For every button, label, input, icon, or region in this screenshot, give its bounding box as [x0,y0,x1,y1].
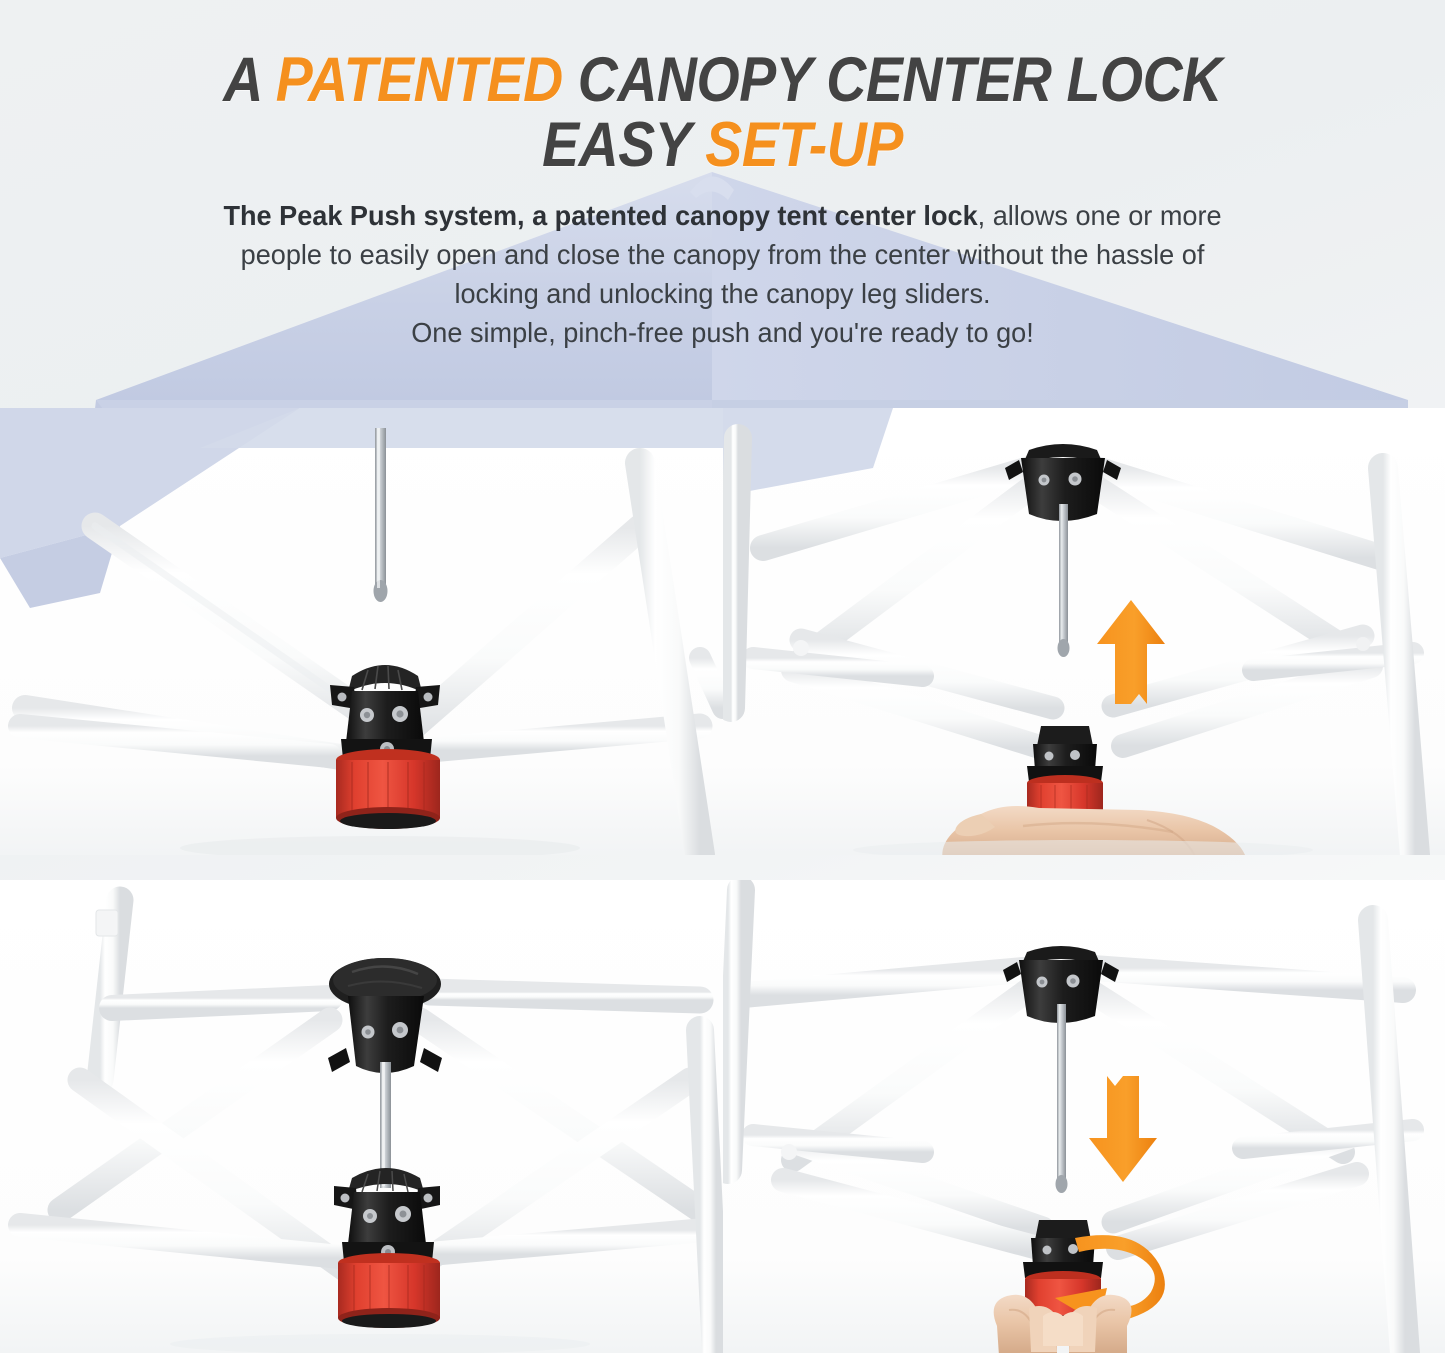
dome-hub-ear-right [420,1048,442,1072]
right-thumb [1063,1312,1083,1346]
page-title: A PATENTED CANOPY CENTER LOCK EASY SET-U… [87,0,1359,178]
photo-grid [0,0,1445,1353]
tube-right-leg [700,1030,716,1353]
bottom-hub-collar [1023,1262,1103,1278]
hand-fingertips [955,814,995,836]
panel-tl-shadow [180,836,580,855]
knob-top-rim [1027,775,1103,791]
hub-ear-right [414,685,440,709]
push-rod-shaft [380,1062,391,1188]
dome-cap-groove-2 [348,981,422,988]
tube-upper-right [430,992,700,1000]
black-peak-hub [1005,444,1121,521]
peak-hub-bolt-right [1067,975,1080,988]
knob-top-rim [336,749,440,771]
left-finger [1029,1306,1057,1352]
tube-truss-right [430,726,700,750]
knob-body [338,1263,440,1318]
knob-body [336,760,440,818]
tube-mid-left [793,1142,1043,1228]
tube-peak-right [1093,968,1403,990]
bottom-hub-collar [1027,766,1103,782]
push-rod-shaft [1057,1004,1066,1182]
dome-cap-groove [352,966,418,974]
red-lock-knob [338,1253,440,1328]
tube-lower-diag-left [793,670,1043,748]
tube-lower-diag-right [1123,666,1371,746]
hub-screw-left [341,1194,350,1203]
tube-x-brace-c [420,1020,700,1210]
hub-body [346,691,424,742]
tube-x-brace-a [60,1020,330,1210]
knob-base-plate [1028,1321,1098,1333]
tube-bottom-right [1253,653,1413,670]
panel-bl-image [0,880,723,1353]
frame-tubes [20,900,716,1353]
tube-left-leg [728,890,741,1170]
title-post: CANOPY CENTER LOCK [563,45,1222,115]
header: A PATENTED CANOPY CENTER LOCK EASY SET-U… [0,0,1445,352]
panel-push-up-to-open [723,408,1445,855]
knob-base-plate [342,1314,436,1328]
hub-ear-left [334,1186,358,1210]
tube-upper-diag-right [1081,985,1343,1152]
knob-ribs [352,762,424,816]
hub-bolt-center [381,1245,395,1259]
panel-bl-background [0,880,723,1353]
steel-push-rod [1056,1004,1068,1193]
infographic-root: A PATENTED CANOPY CENTER LOCK EASY SET-U… [0,0,1445,1353]
rotate-arrow-arc[interactable] [1075,1235,1165,1321]
knob-bottom-rim [338,1308,440,1328]
hub-bolt-right-core [400,1211,407,1218]
hub-bolt-center-core [384,746,390,752]
peak-hub-bolt-left-core [1040,980,1045,985]
red-lock-knob [336,749,440,829]
tube-far-right [700,658,723,708]
title-line1: A PATENTED CANOPY CENTER LOCK [223,45,1222,115]
orange-down-arrow[interactable] [1089,1076,1157,1182]
knob-top-rim [338,1253,440,1273]
bottom-hub-top [1037,726,1093,746]
black-bracket-hub [330,665,440,759]
canopy-fabric-sliver [723,408,893,496]
body-line-2: people to easily open and close the cano… [84,235,1362,274]
knob-top-rim [1025,1271,1101,1287]
title-accent-setup: SET-UP [705,110,903,180]
panel-center-lock-closed [0,408,723,855]
panel-twist-pull-down-to-close [723,880,1445,1353]
hub-bolt-right-core [396,710,403,717]
hub-collar [341,739,432,759]
canopy-valance-right [712,400,1408,420]
canopy-silhouette-art [0,0,1445,560]
peak-hub-body [1019,960,1103,1023]
tube-right-leg [640,463,700,855]
push-rod-tip [374,580,388,602]
bottom-hub-bolt-right [1068,1244,1078,1254]
peak-hub-ear-left [1005,460,1023,480]
orange-up-arrow[interactable] [1097,600,1165,704]
canopy-corner-drape [88,400,150,545]
tube-joint-right [1356,637,1370,651]
hand-crease [1023,823,1173,832]
peak-hub-bolt-right-core [1072,476,1078,482]
dome-cap [329,958,441,1010]
knob-body [1025,1279,1101,1323]
body-line-1: The Peak Push system, a patented canopy … [84,196,1362,235]
bottom-hub-top [1035,1220,1091,1240]
tube-right-leg [1383,468,1415,855]
hub-bolt-center [380,742,394,756]
tube-bottom-left [753,658,923,676]
canopy-valance-left [96,400,712,470]
dome-hub-bolt-left [362,1026,375,1039]
steel-push-rod [1058,504,1070,657]
hub-screw-left [338,693,347,702]
dome-hub-bolt-right-core [397,1027,404,1034]
bottom-hub-bolt-left [1045,752,1054,761]
hub-bolt-right [395,1206,411,1222]
body-line-3: locking and unlocking the canopy leg sli… [84,274,1362,313]
dome-hub-body [348,996,424,1073]
canopy-fabric-corner [0,526,120,608]
steel-push-rod-extended [380,1062,391,1188]
black-peak-hub [1003,946,1119,1023]
hub-screw-right [424,1194,433,1203]
knob-bottom-rim [336,807,440,829]
push-rod-highlight [382,1062,385,1186]
peak-hub-cap [1023,444,1103,464]
tube-x-brace-d [410,1080,690,1272]
tube-upper-diag-left [803,480,1041,658]
bottom-hub-bolt-left [1043,1246,1052,1255]
knob-bottom-rim [1027,819,1103,835]
panel-br-image [723,880,1445,1353]
knob-body [1027,783,1103,827]
tube-upper-diag-right [1085,480,1353,653]
tube-peak-right [1093,468,1383,558]
tube-left-leg [731,438,738,708]
tube-lower-left [20,1225,350,1258]
body-line-1-rest: , allows one or more [978,200,1222,231]
push-rod-shaft [1059,504,1068,646]
canopy-fabric-overlay-top [200,408,723,448]
steel-push-rod [374,428,388,602]
tube-lower-diag-right [1118,1174,1357,1248]
leg-clip [96,910,118,936]
tube-right-leg [1373,920,1405,1353]
push-rod-tip [1056,1175,1068,1193]
tube-upper-diag-left [793,985,1035,1160]
peak-hub-bolt-left [1037,977,1048,988]
canopy-roof-right [712,172,1408,400]
knob-ribs [1041,785,1087,825]
open-hand [942,806,1247,855]
hand-thumb-crease [1147,820,1195,855]
peak-hub-bolt-left-core [1042,478,1047,483]
tube-upper-left [112,998,330,1008]
panel-bl-shadow [170,1334,590,1353]
title-accent-patented: PATENTED [276,45,563,115]
title-line2: EASY SET-UP [87,113,1359,178]
black-bracket-hub [334,1168,440,1262]
frame-tubes [728,890,1413,1353]
hand-palm [942,806,1247,855]
bottom-hub-assembly [1023,1220,1103,1278]
hub-bolt-left [363,1209,377,1223]
body-line-4: One simple, pinch-free push and you're r… [84,313,1362,352]
peak-hub-ear-left [1003,962,1021,982]
canopy-peak-cap [690,176,734,200]
tube-bottom-left [753,1135,923,1152]
hub-ear-right [416,1186,440,1210]
two-hands-grip [994,1295,1132,1353]
body-bold-phrase: The Peak Push system, a patented canopy … [223,200,977,231]
peak-hub-bolt-right-core [1070,978,1076,984]
red-lock-knob [1025,1271,1101,1333]
bottom-hub-body [1033,744,1097,770]
peak-hub-body [1021,458,1105,521]
hub-bolt-left-core [367,1213,373,1219]
frame-tubes [731,438,1415,855]
canopy-fabric-overlay [0,408,300,558]
bottom-hub-assembly [1027,726,1103,835]
panel-br-background [723,880,1445,1353]
tube-bottom-right [1243,1130,1413,1148]
hub-crown [348,665,422,692]
knob-bottom-rim [1025,1315,1101,1331]
tube-mid-left [801,640,1053,708]
hub-crown-flutes [362,1171,408,1192]
panel-locked-extended [0,880,723,1353]
dome-cap-top [333,958,437,1002]
hub-bolt-right [392,706,408,722]
tube-joint-left [793,640,809,656]
dome-hub-bolt-left-core [365,1029,371,1035]
right-finger [1069,1306,1097,1352]
dome-hub-ear-left [328,1048,350,1072]
bottom-hub-bolt-right [1070,750,1080,760]
down-arrow-shape[interactable] [1089,1076,1157,1182]
dome-hub-bolt-right [392,1022,408,1038]
hub-bolt-center-core [385,1249,391,1255]
bottom-hub-body [1031,1238,1095,1266]
hub-screw-right [424,693,433,702]
panel-tl-image [0,408,723,855]
black-dome-cap-hub [328,958,442,1073]
hub-crown [348,1168,424,1192]
push-rod-highlight [377,428,380,588]
left-hand-crease [1009,1310,1031,1322]
tube-lower-diag-left [783,1180,1053,1252]
panel-tr-background [723,408,1445,855]
tube-truss-left [20,726,330,756]
tube-x-brace-b [80,1080,360,1280]
push-rod-tip [1058,639,1070,657]
peak-hub-ear-right [1103,460,1121,480]
orange-rotate-arrow[interactable] [1055,1235,1165,1324]
title-pre: A [223,45,276,115]
peak-hub-bolt-left [1039,475,1050,486]
title-easy: EASY [542,110,705,180]
canopy-roof-left [96,172,712,400]
tube-mid-right [1113,636,1363,706]
hub-bolt-left-core [364,712,370,718]
tube-joint-left [781,1144,797,1160]
knob-base-plate [340,813,436,829]
knob-ribs [354,1265,424,1316]
tube-upper-left [95,526,400,738]
peak-hub-cap [1021,946,1101,966]
tube-mid-right [1113,1138,1348,1222]
panel-tr-image [723,408,1445,855]
tube-upper-left-hi [95,526,400,738]
right-hand [1069,1295,1132,1353]
tube-lower-left [25,708,360,760]
panel-tr-shadow [853,840,1313,855]
peak-hub-bolt-right [1069,473,1082,486]
right-hand-crease [1093,1310,1115,1322]
hub-bolt-left [360,708,374,722]
peak-hub-ear-right [1101,962,1119,982]
hub-body [348,1192,426,1244]
body-copy: The Peak Push system, a patented canopy … [11,178,1434,352]
hub-ear-left [330,685,356,709]
hub-collar [342,1242,434,1262]
tube-upper-right [400,528,640,738]
hub-crown-flutes [362,666,402,690]
tube-lower-right [430,1230,705,1254]
push-rod-shaft [375,428,386,590]
rotate-arrow-head[interactable] [1055,1288,1107,1324]
tube-left-leg [100,900,120,1080]
up-arrow-shape[interactable] [1097,600,1165,704]
left-thumb [1043,1312,1063,1346]
panel-tl-background [0,408,723,855]
left-hand [994,1295,1057,1353]
frame-tubes [20,463,723,855]
tube-peak-left [743,970,1023,995]
tube-peak-left [763,468,1033,548]
